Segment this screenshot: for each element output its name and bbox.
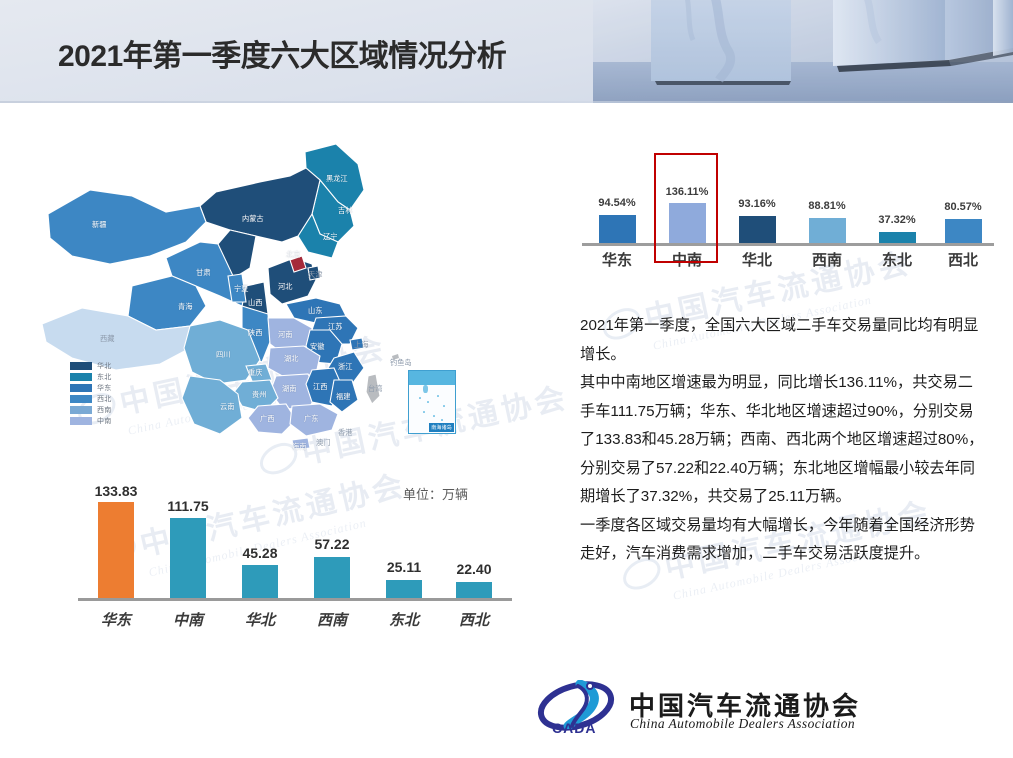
inset-island [443,405,445,407]
volume-bar-value: 111.75 [152,498,224,514]
legend-label: 西北 [97,394,112,404]
growth-cat-dongbei: 东北 [862,249,932,270]
map-label: 青海 [178,302,192,312]
map-label: 辽宁 [323,232,337,242]
legend-item-xinan: 西南 [70,405,112,415]
volume-cat-huabei: 华北 [224,609,296,630]
map-label: 宁夏 [234,284,248,294]
map-label: 福建 [336,392,350,402]
volume-bar-group: 22.40 [438,478,510,598]
legend-item-huadong: 华东 [70,383,112,393]
blue-cubes-decoration [593,0,1013,103]
volume-cat-zhongnan: 中南 [152,609,224,630]
map-label: 重庆 [248,368,262,378]
map-label: 湖南 [282,384,296,394]
map-label: 黑龙江 [326,174,348,184]
map-label: 钓鱼岛 [390,358,412,368]
volume-bar[interactable] [170,518,206,598]
map-label: 四川 [216,350,230,360]
growth-bar-group: 94.54% [582,165,652,243]
growth-cat-huadong: 华东 [582,249,652,270]
zhongnan-highlight-box [654,153,718,263]
analysis-text: 2021年第一季度，全国六大区域二手车交易量同比均有明显增长。 其中中南地区增速… [580,312,988,569]
page-title: 2021年第一季度六大区域情况分析 [58,31,506,75]
inset-island [437,395,439,397]
paragraph-1: 2021年第一季度，全国六大区域二手车交易量同比均有明显增长。 [580,312,988,369]
cada-logo: CADA 中国汽车流通协会 China Automobile Dealers A… [534,680,984,742]
map-label: 贵州 [252,390,266,400]
slide-header: 2021年第一季度六大区域情况分析 [0,0,1013,103]
inset-island [427,401,429,403]
legend-label: 华东 [97,383,112,393]
map-label: 云南 [220,402,234,412]
inset-island [441,419,443,421]
growth-cat-xinan: 西南 [792,249,862,270]
growth-bar[interactable] [809,218,846,243]
map-label: 香港 [338,428,352,438]
growth-chart-plot: 94.54% 136.11% 93.16% 88.81% 37.32% 80.5… [578,165,998,243]
inset-island [419,397,421,399]
logo-abbr: CADA [552,720,596,736]
growth-bar[interactable] [879,232,916,243]
growth-bar-value: 88.81% [790,200,864,212]
map-label: 新疆 [92,220,106,230]
region-growth-chart: 94.54% 136.11% 93.16% 88.81% 37.32% 80.5… [578,165,998,280]
volume-bar-value: 57.22 [296,536,368,552]
volume-bar-group: 25.11 [368,478,440,598]
map-label: 吉林 [338,206,352,216]
map-label: 陕西 [248,328,262,338]
volume-chart-axis [78,598,512,601]
region-volume-chart: 单位：万辆 133.83 111.75 45.28 57.22 25.11 22… [60,470,530,645]
legend-label: 华北 [97,361,112,371]
inset-island [423,385,428,393]
logo-en-text: China Automobile Dealers Association [630,716,855,732]
map-label: 海南 [292,442,306,452]
legend-item-zhongnan: 中南 [70,416,112,426]
growth-bar[interactable] [945,219,982,243]
growth-cat-xibei: 西北 [928,249,998,270]
inset-coast [409,371,455,385]
volume-cat-xinan: 西南 [296,609,368,630]
growth-bar-group: 37.32% [862,165,932,243]
volume-chart-plot: 133.83 111.75 45.28 57.22 25.11 22.40 [80,478,510,598]
volume-bar-group: 111.75 [152,478,224,598]
volume-bar-group: 133.83 [80,478,152,598]
volume-cat-xibei: 西北 [438,609,510,630]
volume-cat-dongbei: 东北 [368,609,440,630]
map-label: 广西 [260,414,274,424]
volume-bar-value: 45.28 [224,545,296,561]
volume-chart-categories: 华东 中南 华北 西南 东北 西北 [80,609,510,639]
growth-bar[interactable] [599,215,636,243]
south-china-sea-inset: 南海诸岛 [408,370,456,434]
legend-item-xibei: 西北 [70,394,112,404]
map-label: 江西 [313,382,327,392]
china-region-map: 黑龙江 吉林 辽宁 内蒙古 新疆 甘肃 宁夏 青海 西藏 山西 河北 天津 北京… [20,118,540,448]
volume-bar[interactable] [242,565,278,598]
header-divider [0,101,1013,103]
map-label: 湖北 [284,354,298,364]
volume-bar[interactable] [314,557,350,598]
map-label: 河北 [278,282,292,292]
legend-swatch [70,373,92,381]
legend-item-huabei: 华北 [70,361,112,371]
legend-swatch [70,406,92,414]
volume-cat-huadong: 华东 [80,609,152,630]
map-label: 上海 [354,340,368,350]
map-label: 河南 [278,330,292,340]
legend-label: 中南 [97,416,112,426]
growth-cat-huabei: 华北 [722,249,792,270]
map-label: 天津 [308,270,322,280]
growth-bar-value: 94.54% [580,197,654,209]
legend-swatch [70,395,92,403]
legend-label: 西南 [97,405,112,415]
map-label: 西藏 [100,334,114,344]
map-label: 浙江 [338,362,352,372]
map-label: 澳门 [316,438,330,448]
volume-bar[interactable] [98,502,134,598]
growth-bar[interactable] [739,216,776,243]
paragraph-2: 其中中南地区增速最为明显，同比增长136.11%，共交易二手车111.75万辆；… [580,369,988,512]
growth-bar-value: 80.57% [926,201,1000,213]
volume-bar-value: 25.11 [368,559,440,575]
volume-bar[interactable] [386,580,422,598]
map-label: 安徽 [310,342,324,352]
map-label: 甘肃 [196,268,210,278]
inset-island [433,415,435,417]
legend-swatch [70,417,92,425]
map-label: 山东 [308,306,322,316]
inset-label: 南海诸岛 [429,423,454,432]
growth-bar-value: 37.32% [860,214,934,226]
map-label: 北京 [286,250,300,260]
volume-bar-value: 22.40 [438,561,510,577]
map-label: 山西 [248,298,262,308]
volume-bar[interactable] [456,582,492,598]
growth-chart-categories: 华东 中南 华北 西南 东北 西北 [578,249,998,275]
growth-bar-group: 93.16% [722,165,792,243]
legend-label: 东北 [97,372,112,382]
paragraph-3: 一季度各区域交易量均有大幅增长，今年随着全国经济形势走好，汽车消费需求增加，二手… [580,512,988,569]
volume-bar-group: 57.22 [296,478,368,598]
growth-chart-axis [582,243,994,246]
growth-bar-value: 93.16% [720,198,794,210]
map-label: 江苏 [328,322,342,332]
map-legend: 华北 东北 华东 西北 西南 中南 [70,361,112,427]
growth-bar-group: 80.57% [928,165,998,243]
map-label: 广东 [304,414,318,424]
inset-island [423,411,425,413]
volume-bar-group: 45.28 [224,478,296,598]
legend-swatch [70,362,92,370]
map-label: 台湾 [368,384,382,394]
volume-bar-value: 133.83 [80,483,152,499]
legend-item-dongbei: 东北 [70,372,112,382]
map-label: 内蒙古 [242,214,264,224]
legend-swatch [70,384,92,392]
growth-bar-group: 88.81% [792,165,862,243]
